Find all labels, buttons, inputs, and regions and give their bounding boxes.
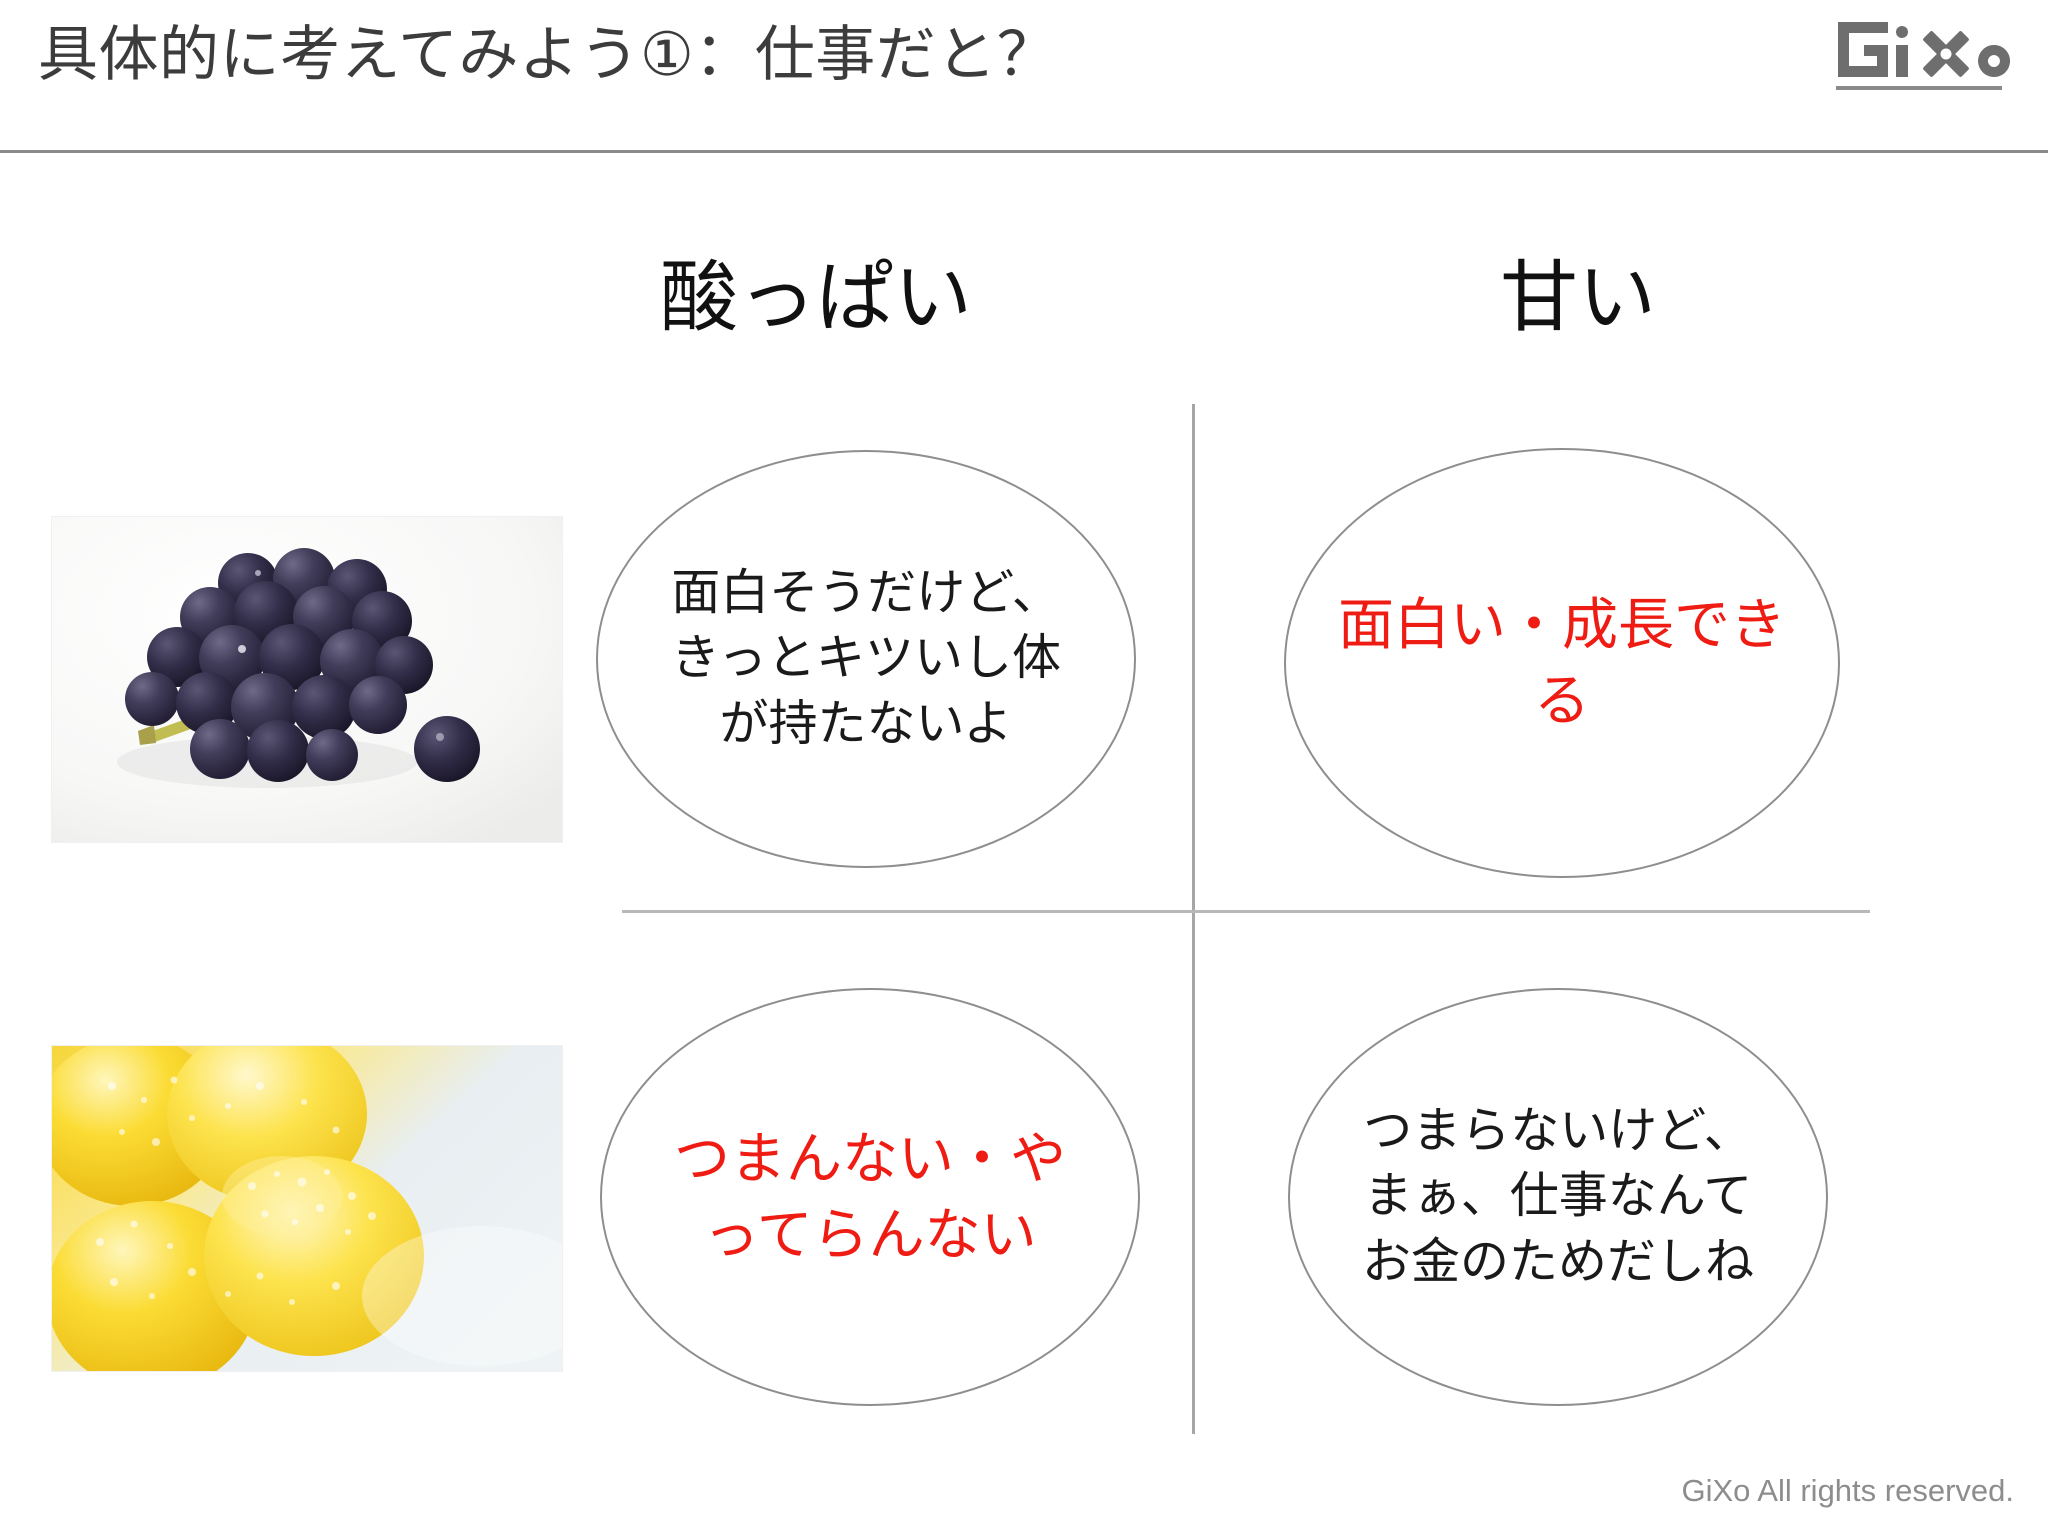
quadrant-bubble-sour-top-text: 面白そうだけど、きっとキツいし体が持たないよ bbox=[598, 561, 1134, 756]
matrix-horizontal-axis bbox=[622, 910, 1870, 913]
quadrant-bubble-sour-bottom[interactable]: つまんない・やってらんない bbox=[600, 988, 1140, 1406]
quadrant-bubble-sweet-bottom-text: つまらないけど、まぁ、仕事なんてお金のためだしね bbox=[1290, 1099, 1826, 1294]
slide-canvas: 具体的に考えてみよう①：仕事だと？ bbox=[0, 0, 2048, 1539]
quadrant-bubble-sour-bottom-text: つまんない・やってらんない bbox=[602, 1121, 1138, 1273]
quadrant-bubble-sweet-top[interactable]: 面白い・成長できる bbox=[1284, 448, 1840, 878]
gixo-logo bbox=[1834, 16, 2020, 102]
footer-copyright: GiXo All rights reserved. bbox=[1681, 1473, 2014, 1509]
gixo-logo-mark bbox=[1834, 16, 2020, 102]
lemons-photo bbox=[52, 1046, 562, 1371]
quadrant-bubble-sweet-top-text: 面白い・成長できる bbox=[1286, 587, 1838, 739]
column-header-sweet: 甘い bbox=[1500, 258, 1656, 336]
grapes-photo bbox=[52, 517, 562, 842]
grapes-photo-art bbox=[52, 517, 562, 842]
quadrant-bubble-sour-top[interactable]: 面白そうだけど、きっとキツいし体が持たないよ bbox=[596, 450, 1136, 868]
page-title: 具体的に考えてみよう①：仕事だと？ bbox=[38, 22, 1057, 88]
column-header-sour: 酸っぱい bbox=[660, 258, 972, 336]
matrix-vertical-axis bbox=[1192, 404, 1195, 1434]
lemons-photo-art bbox=[52, 1046, 562, 1371]
header-divider bbox=[0, 150, 2048, 153]
quadrant-bubble-sweet-bottom[interactable]: つまらないけど、まぁ、仕事なんてお金のためだしね bbox=[1288, 988, 1828, 1406]
